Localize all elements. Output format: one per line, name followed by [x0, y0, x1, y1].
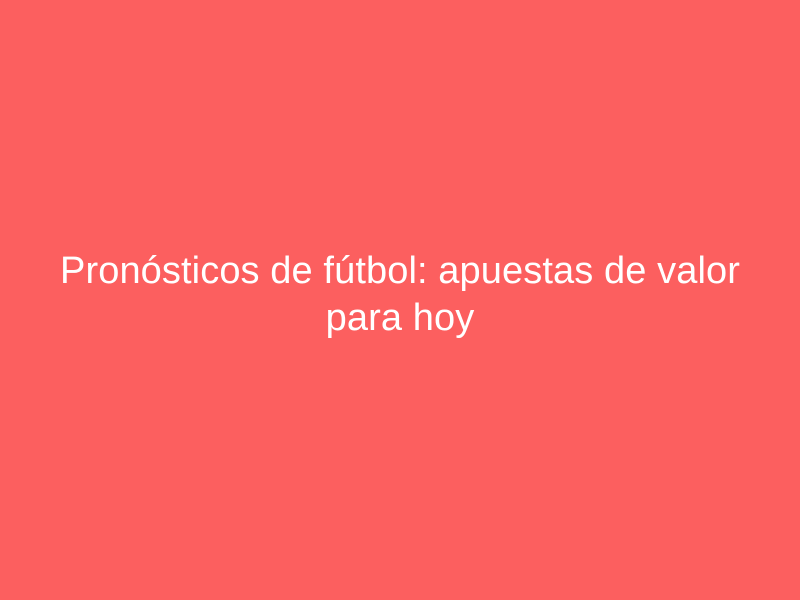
hero-card: Pronósticos de fútbol: apuestas de valor…	[0, 0, 800, 600]
page-title: Pronósticos de fútbol: apuestas de valor…	[55, 248, 745, 342]
hero-title-block: Pronósticos de fútbol: apuestas de valor…	[55, 248, 745, 342]
